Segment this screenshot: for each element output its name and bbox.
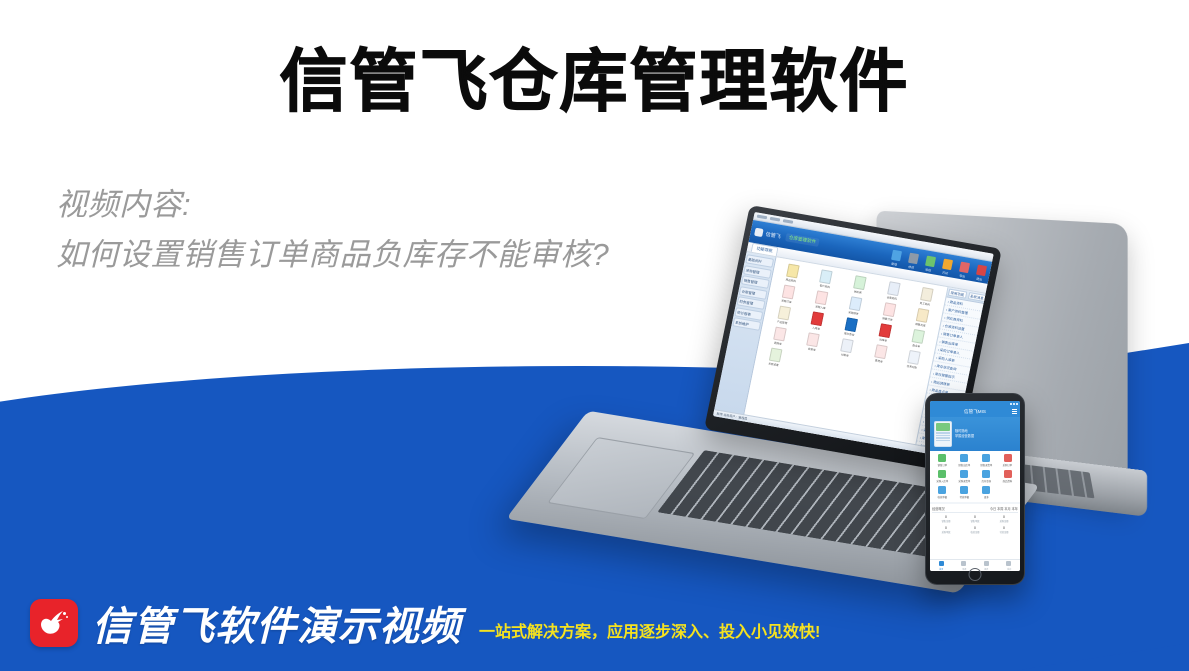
function-icon-采购退货[interactable]: 采购退货 bbox=[837, 294, 873, 318]
subtitle-question: 如何设置销售订单商品负库存不能审核? bbox=[56, 230, 609, 280]
phone-function-label: 采购入库单 bbox=[934, 479, 952, 482]
function-icon-商品资料[interactable]: 商品资料 bbox=[774, 262, 810, 286]
phone-function-库存查询[interactable]: 库存查询 bbox=[976, 470, 997, 483]
phone-function-付款单据[interactable]: 付款单据 bbox=[954, 486, 975, 499]
phone-app-header: 信管飞MIS bbox=[930, 406, 1020, 417]
function-icon-采购入库[interactable]: 采购入库 bbox=[803, 288, 839, 312]
toolbar-label: 修改 bbox=[905, 264, 917, 270]
function-glyph-icon bbox=[769, 347, 783, 362]
phone-function-label: 采购退货单 bbox=[955, 479, 973, 482]
phone-nav-我的[interactable]: 我的 bbox=[998, 560, 1021, 571]
function-glyph-icon bbox=[912, 329, 926, 344]
stat-cell: 0销售金额 bbox=[932, 515, 960, 523]
function-icon-采购订单[interactable]: 采购订单 bbox=[770, 283, 806, 307]
chart-icon bbox=[984, 561, 989, 566]
function-icon-盘点单[interactable]: 盘点单 bbox=[900, 327, 936, 351]
phone-function-销售退货单[interactable]: 销售退货单 bbox=[976, 454, 997, 467]
function-label: 费用单 bbox=[864, 357, 892, 365]
phone-function-label: 更多 bbox=[977, 495, 995, 498]
stat-label: 付款金额 bbox=[992, 530, 1016, 533]
toolbar-button-修改[interactable]: 修改 bbox=[905, 252, 920, 270]
video-description: 视频内容: 如何设置销售订单商品负库存不能审核? bbox=[56, 180, 609, 280]
phone-nav-label: 首页 bbox=[932, 567, 950, 570]
phone-function-icon bbox=[982, 454, 990, 462]
toolbar-icon bbox=[908, 253, 919, 265]
phone-function-icon bbox=[1004, 454, 1012, 462]
function-icon-grid: 商品资料客户资料供应商仓库资料员工资料采购订单采购入库采购退货销售订单销售出库产… bbox=[757, 262, 945, 393]
toolbar-icon bbox=[891, 250, 902, 262]
function-icon-客户资料[interactable]: 客户资料 bbox=[808, 267, 844, 291]
function-icon-入库单[interactable]: 入库单 bbox=[799, 309, 835, 333]
menu-file[interactable] bbox=[757, 215, 768, 220]
phone-function-icon bbox=[960, 454, 968, 462]
toolbar-icon bbox=[942, 259, 953, 271]
toolbar-icon bbox=[925, 256, 936, 268]
battery-icon bbox=[1016, 403, 1018, 405]
menu-edit[interactable] bbox=[770, 217, 781, 222]
hamburger-menu-icon[interactable] bbox=[1012, 409, 1017, 414]
stat-cell: 0收款金额 bbox=[961, 526, 989, 534]
function-glyph-icon bbox=[840, 338, 854, 353]
phone-function-label: 销售退货单 bbox=[977, 463, 995, 466]
function-glyph-icon bbox=[916, 308, 930, 323]
toolbar-button-打印[interactable]: 打印 bbox=[939, 258, 954, 276]
function-icon-供应商[interactable]: 供应商 bbox=[841, 273, 877, 297]
stats-title: 经营概况 bbox=[932, 506, 945, 511]
stat-label: 收款金额 bbox=[963, 530, 987, 533]
banner-device-illustration bbox=[934, 421, 952, 447]
function-glyph-icon bbox=[853, 275, 867, 290]
phone-function-grid: 销售订单销售出库单销售退货单采购订单采购入库单采购退货单库存查询商品资料收款单据… bbox=[930, 451, 1020, 502]
function-label: 往来对账 bbox=[898, 363, 926, 371]
toolbar-label: 审核 bbox=[922, 267, 934, 273]
toolbar-label: 打印 bbox=[939, 270, 951, 276]
phone-screen: 信管飞MIS 随时随地掌握经营数据 销售订单销售出库单销售退货单采购订单采购入库… bbox=[930, 401, 1020, 571]
stats-periods[interactable]: 今日 本周 本月 本年 bbox=[990, 506, 1018, 511]
function-glyph-icon bbox=[777, 305, 791, 320]
stat-cell: 0付款金额 bbox=[990, 526, 1018, 534]
function-icon-收款单[interactable]: 收款单 bbox=[795, 330, 831, 354]
wifi-icon bbox=[1013, 403, 1015, 405]
phone-function-icon bbox=[1004, 470, 1012, 478]
function-glyph-icon bbox=[773, 326, 787, 341]
function-glyph-icon bbox=[786, 263, 800, 278]
toolbar-button-导出[interactable]: 导出 bbox=[956, 261, 971, 279]
right-panel-tab-系统消息[interactable]: 系统消息 bbox=[967, 292, 986, 302]
function-icon-产品管理[interactable]: 产品管理 bbox=[765, 304, 801, 328]
user-icon bbox=[1006, 561, 1011, 566]
phone-function-icon bbox=[938, 454, 946, 462]
function-glyph-icon bbox=[907, 350, 921, 365]
phone-nav-label: 我的 bbox=[1000, 567, 1018, 570]
phone-function-销售出库单[interactable]: 销售出库单 bbox=[954, 454, 975, 467]
function-label: 付款单 bbox=[831, 351, 859, 359]
phone-function-label: 销售订单 bbox=[934, 463, 952, 466]
toolbar-button-新增[interactable]: 新增 bbox=[888, 249, 903, 267]
toolbar-label: 退出 bbox=[973, 276, 985, 282]
stat-cell: 0采购金额 bbox=[990, 515, 1018, 523]
stat-label: 销售金额 bbox=[934, 519, 958, 522]
phone-function-icon bbox=[982, 486, 990, 494]
stat-cell: 0销售单数 bbox=[961, 515, 989, 523]
phone-function-采购订单[interactable]: 采购订单 bbox=[997, 454, 1018, 467]
phone-function-icon bbox=[938, 486, 946, 494]
right-panel-tab-常用功能[interactable]: 常用功能 bbox=[948, 289, 967, 299]
document-icon bbox=[961, 561, 966, 566]
stats-header: 经营概况 今日 本周 本月 本年 bbox=[932, 506, 1018, 513]
flying-bird-logo-icon bbox=[30, 599, 78, 647]
phone-function-icon bbox=[982, 470, 990, 478]
subtitle-label: 视频内容: bbox=[56, 180, 609, 230]
function-icon-员工资料[interactable]: 员工资料 bbox=[908, 285, 944, 309]
phone-stats-panel: 经营概况 今日 本周 本月 本年 0销售金额0销售单数0采购金额0采购单数0收款… bbox=[930, 504, 1020, 559]
phone-function-icon bbox=[960, 470, 968, 478]
phone-nav-首页[interactable]: 首页 bbox=[930, 560, 953, 571]
phone-function-label: 销售出库单 bbox=[955, 463, 973, 466]
function-icon-出库单[interactable]: 出库单 bbox=[866, 321, 902, 345]
function-glyph-icon bbox=[878, 323, 892, 338]
function-label: 收款单 bbox=[797, 345, 825, 353]
toolbar-icon bbox=[976, 264, 987, 276]
toolbar-label: 新增 bbox=[888, 261, 900, 267]
brand-name: 信管飞软件演示视频 bbox=[92, 594, 461, 652]
function-glyph-icon bbox=[844, 317, 858, 332]
phone-function-icon bbox=[960, 486, 968, 494]
function-glyph-icon bbox=[811, 311, 825, 326]
function-label: 系统设置 bbox=[759, 360, 787, 368]
function-icon-系统设置[interactable]: 系统设置 bbox=[757, 346, 793, 370]
stat-label: 采购金额 bbox=[992, 519, 1016, 522]
stat-cell: 0采购单数 bbox=[932, 526, 960, 534]
function-icon-费用单[interactable]: 费用单 bbox=[862, 342, 898, 366]
function-icon-付款单[interactable]: 付款单 bbox=[828, 336, 864, 360]
phone-function-采购入库单[interactable]: 采购入库单 bbox=[932, 470, 953, 483]
phone-function-label: 商品资料 bbox=[999, 479, 1017, 482]
stat-label: 采购单数 bbox=[934, 530, 958, 533]
function-glyph-icon bbox=[819, 269, 833, 284]
function-icon-库存查询[interactable]: 库存查询 bbox=[833, 315, 869, 339]
function-glyph-icon bbox=[887, 281, 901, 296]
brand-tagline: 一站式解决方案，应用逐步深入、投入小见效快! bbox=[479, 618, 820, 642]
phone-function-商品资料[interactable]: 商品资料 bbox=[997, 470, 1018, 483]
phone-function-label: 付款单据 bbox=[955, 495, 973, 498]
phone-function-label: 采购订单 bbox=[999, 463, 1017, 466]
toolbar-button-退出[interactable]: 退出 bbox=[973, 264, 988, 282]
banner-text: 随时随地掌握经营数据 bbox=[955, 429, 974, 439]
function-icon-仓库资料[interactable]: 仓库资料 bbox=[875, 279, 911, 303]
toolbar-label: 导出 bbox=[956, 273, 968, 279]
phone-function-销售订单[interactable]: 销售订单 bbox=[932, 454, 953, 467]
app-module-badge: 仓库管理软件 bbox=[785, 233, 820, 247]
phone-function-更多[interactable]: 更多 bbox=[976, 486, 997, 499]
function-glyph-icon bbox=[782, 284, 796, 299]
function-glyph-icon bbox=[815, 290, 829, 305]
stat-label: 销售单数 bbox=[963, 519, 987, 522]
function-glyph-icon bbox=[882, 302, 896, 317]
phone-function-label: 收款单据 bbox=[934, 495, 952, 498]
stats-grid: 0销售金额0销售单数0采购金额0采购单数0收款金额0付款金额 bbox=[932, 513, 1018, 534]
function-glyph-icon bbox=[874, 344, 888, 359]
phone-function-采购退货单[interactable]: 采购退货单 bbox=[954, 470, 975, 483]
function-icon-调拨单[interactable]: 调拨单 bbox=[761, 325, 797, 349]
function-glyph-icon bbox=[807, 332, 821, 347]
phone-function-收款单据[interactable]: 收款单据 bbox=[932, 486, 953, 499]
app-logo-icon bbox=[754, 228, 764, 237]
toolbar-icon bbox=[959, 261, 970, 273]
function-glyph-icon bbox=[849, 296, 863, 311]
function-icon-销售出库[interactable]: 销售出库 bbox=[904, 306, 940, 330]
phone-function-label: 库存查询 bbox=[977, 479, 995, 482]
app-brand: 信管飞 bbox=[765, 230, 781, 240]
toolbar-button-审核[interactable]: 审核 bbox=[922, 255, 937, 273]
phone-function-icon bbox=[938, 470, 946, 478]
signal-icon bbox=[1010, 403, 1012, 405]
page-title: 信管飞仓库管理软件 bbox=[0, 46, 1189, 118]
function-icon-往来对账[interactable]: 往来对账 bbox=[895, 348, 931, 372]
phone-app-title: 信管飞MIS bbox=[964, 409, 986, 415]
function-glyph-icon bbox=[920, 287, 934, 302]
phone-banner: 随时随地掌握经营数据 bbox=[930, 417, 1020, 451]
footer-bar: 信管飞软件演示视频 一站式解决方案，应用逐步深入、投入小见效快! bbox=[0, 575, 1189, 671]
smartphone: 信管飞MIS 随时随地掌握经营数据 销售订单销售出库单销售退货单采购订单采购入库… bbox=[925, 393, 1025, 585]
slide-root: 信管飞仓库管理软件 视频内容: 如何设置销售订单商品负库存不能审核? bbox=[0, 0, 1189, 671]
function-icon-销售订单[interactable]: 销售订单 bbox=[871, 300, 907, 324]
home-icon bbox=[939, 561, 944, 566]
menu-view[interactable] bbox=[783, 219, 794, 224]
